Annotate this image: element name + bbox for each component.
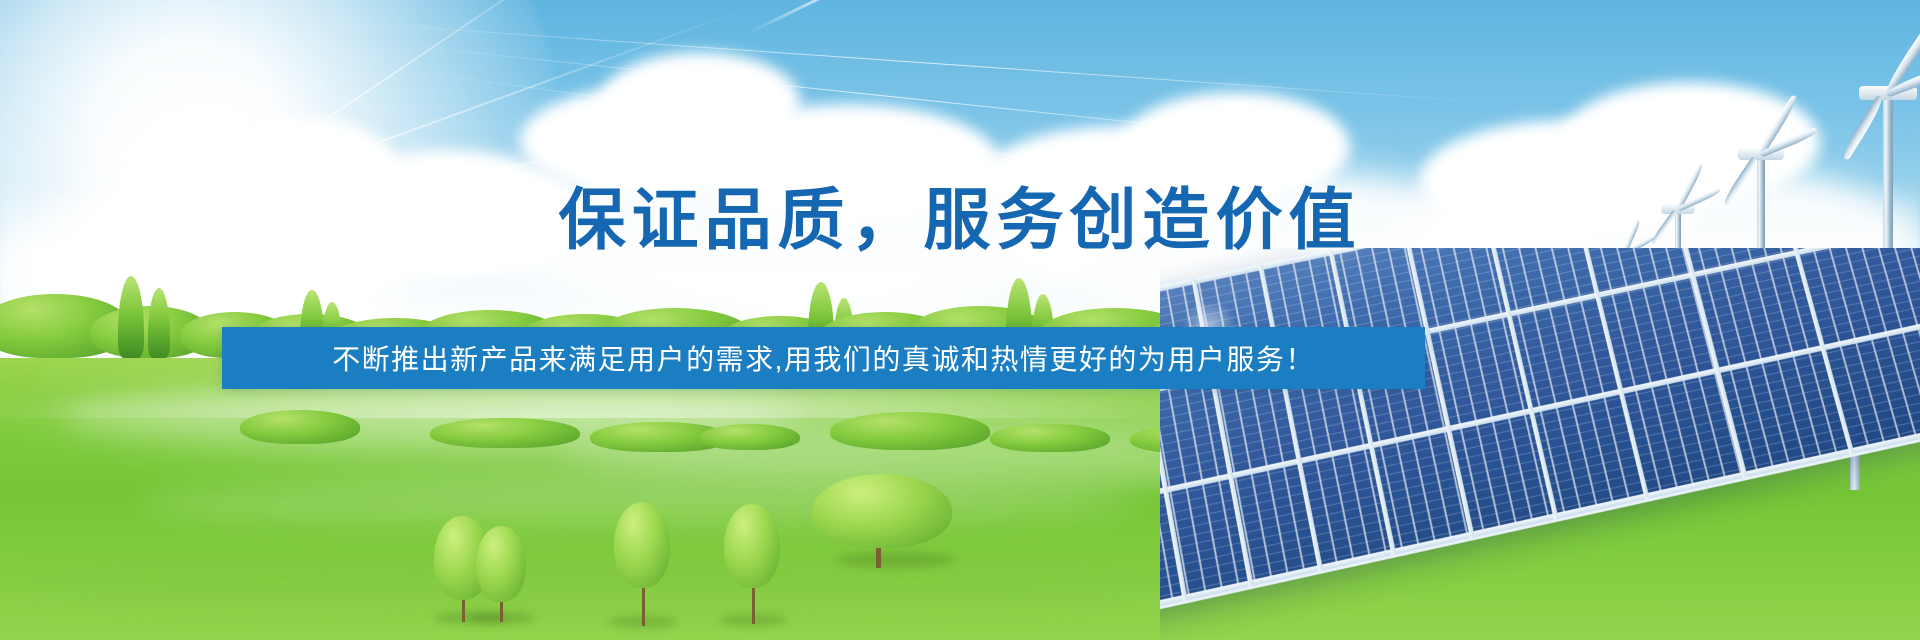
tree-shadow [836, 552, 956, 568]
tree-crown [812, 474, 952, 548]
lens-flare-dot [152, 84, 167, 99]
sapling-crown [614, 502, 670, 588]
cypress-tree [148, 288, 170, 358]
cypress-tree [118, 276, 144, 358]
subtitle-text: 不断推出新产品来满足用户的需求,用我们的真诚和热情更好的为用户服务！ [332, 338, 1315, 378]
lens-flare-dot [172, 92, 180, 100]
solar-cell-grid [1160, 248, 1920, 614]
hero-banner: 保证品质，服务创造价值 不断推出新产品来满足用户的需求,用我们的真诚和热情更好的… [0, 0, 1920, 640]
turbine-blade [1840, 94, 1887, 160]
solar-panel-surface [1160, 248, 1920, 618]
shrub [430, 418, 580, 448]
shrub [830, 412, 990, 450]
page-title: 保证品质，服务创造价值 [0, 166, 1920, 263]
solar-panel-array [1160, 248, 1920, 640]
subtitle-banner: 不断推出新产品来满足用户的需求,用我们的真诚和热情更好的为用户服务！ [222, 327, 1425, 389]
sapling-crown [724, 504, 780, 588]
shrub [240, 410, 360, 444]
sapling-shadow [470, 612, 536, 624]
airplane-contrail [746, 0, 864, 35]
shrub [990, 424, 1110, 452]
sapling-crown [476, 526, 526, 602]
shrub [700, 424, 800, 450]
hill-shading [0, 548, 1200, 608]
